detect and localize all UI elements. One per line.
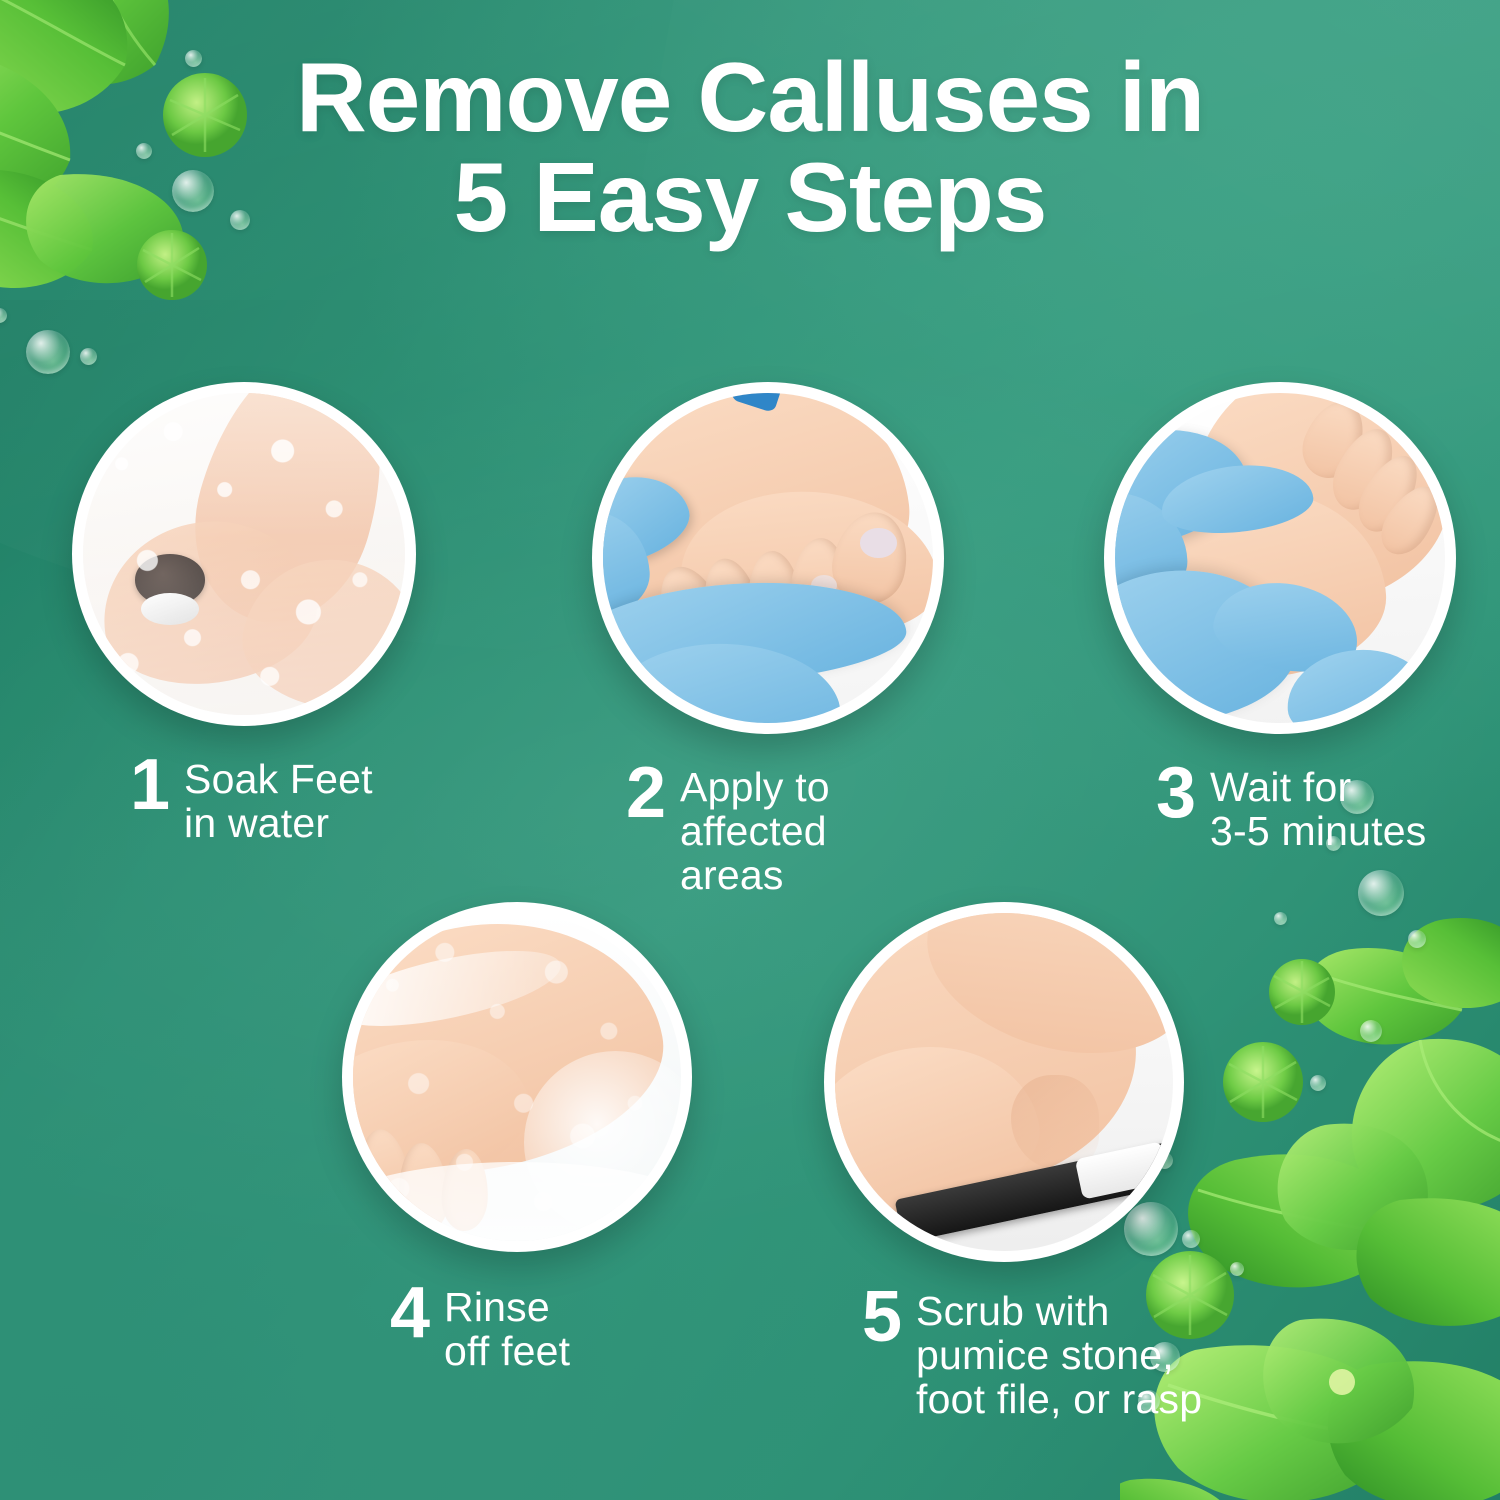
- water-droplet: [1274, 912, 1287, 925]
- infographic-poster: Remove Calluses in 5 Easy Steps 1 Soak F…: [0, 0, 1500, 1500]
- step-2: 2 Apply to affected areas: [592, 382, 944, 898]
- step-4-caption: 4 Rinse off feet: [390, 1280, 692, 1374]
- step-3-label: Wait for 3-5 minutes: [1210, 760, 1426, 854]
- step-1: 1 Soak Feet in water: [72, 382, 416, 846]
- water-droplet: [80, 348, 97, 365]
- step-1-number: 1: [130, 752, 170, 818]
- step-3: 3 Wait for 3-5 minutes: [1104, 382, 1456, 854]
- step-4-label: Rinse off feet: [444, 1280, 570, 1374]
- step-3-photo-wait: [1104, 382, 1456, 734]
- step-4-number: 4: [390, 1280, 430, 1346]
- poster-title: Remove Calluses in 5 Easy Steps: [0, 48, 1500, 248]
- step-3-number: 3: [1156, 760, 1196, 826]
- step-3-caption: 3 Wait for 3-5 minutes: [1156, 760, 1456, 854]
- step-1-label: Soak Feet in water: [184, 752, 373, 846]
- water-droplet: [1408, 930, 1426, 948]
- step-5-label: Scrub with pumice stone, foot file, or r…: [916, 1284, 1202, 1422]
- step-1-caption: 1 Soak Feet in water: [130, 752, 416, 846]
- step-5-caption: 5 Scrub with pumice stone, foot file, or…: [862, 1284, 1202, 1422]
- water-droplet: [26, 330, 70, 374]
- water-droplet: [1310, 1075, 1326, 1091]
- step-2-photo-apply-treatment: [592, 382, 944, 734]
- step-2-label: Apply to affected areas: [680, 760, 830, 898]
- step-2-caption: 2 Apply to affected areas: [626, 760, 944, 898]
- step-5: 5 Scrub with pumice stone, foot file, or…: [824, 902, 1202, 1422]
- step-4: 4 Rinse off feet: [342, 902, 692, 1374]
- step-1-photo-soak-feet: [72, 382, 416, 726]
- water-droplet: [0, 308, 7, 323]
- step-4-photo-rinse-feet: [342, 902, 692, 1252]
- water-droplet: [1358, 870, 1404, 916]
- title-line-1: Remove Calluses in: [296, 42, 1204, 152]
- step-2-number: 2: [626, 760, 666, 826]
- step-5-number: 5: [862, 1284, 902, 1350]
- step-5-photo-scrub-heel: [824, 902, 1184, 1262]
- water-droplet: [1360, 1020, 1382, 1042]
- title-line-2: 5 Easy Steps: [0, 148, 1500, 248]
- water-droplet: [1230, 1262, 1244, 1276]
